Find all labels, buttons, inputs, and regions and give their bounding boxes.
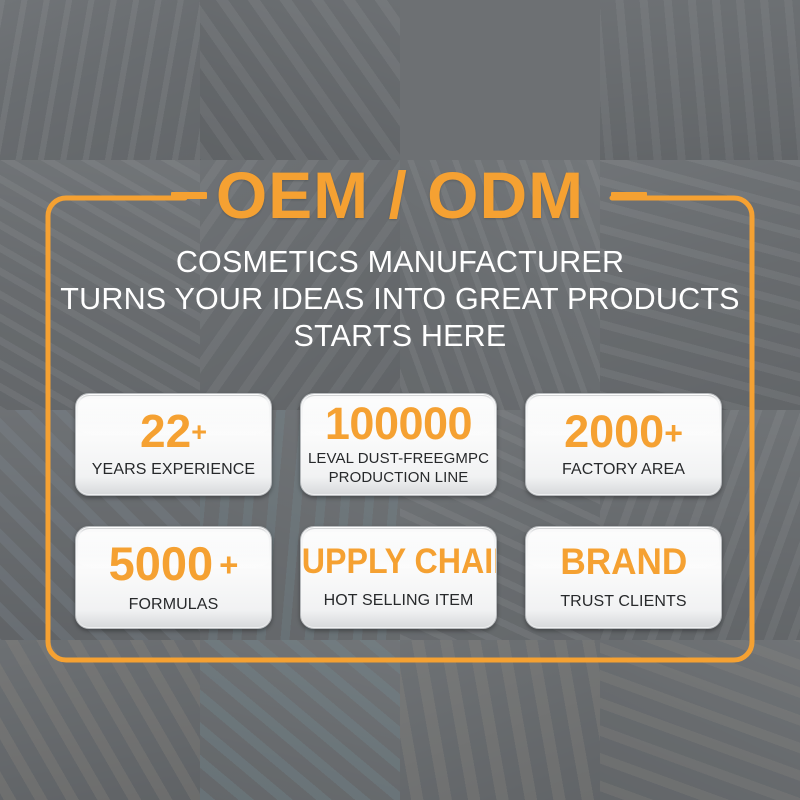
stat-number: BRAND [560,541,687,582]
stat-card-supply-chain[interactable]: SUPPLY CHAIN HOT SELLING ITEM [300,526,497,629]
stat-number: 5000 [109,537,214,590]
stat-plus-sign: + [219,546,238,583]
stat-value: 22+ [140,408,207,454]
subtitle-line-1: COSMETICS MANUFACTURER [0,244,800,281]
stat-value: BRAND [560,543,687,580]
stat-card-grid: 22+ YEARS EXPERIENCE 100000 LEVAL DUST-F… [75,393,723,629]
stat-number: SUPPLY CHAIN [300,542,497,581]
stat-value: 5000+ [109,540,239,587]
promo-banner: OEM / ODM COSMETICS MANUFACTURER TURNS Y… [0,0,800,800]
stat-label: FORMULAS [129,595,219,614]
stat-number: 2000 [564,406,664,457]
stat-label: LEVAL DUST-FREEGMPC PRODUCTION LINE [308,449,489,487]
subtitle: COSMETICS MANUFACTURER TURNS YOUR IDEAS … [0,244,800,355]
subtitle-line-3: STARTS HERE [0,318,800,355]
stat-card-production-line[interactable]: 100000 LEVAL DUST-FREEGMPC PRODUCTION LI… [300,393,497,496]
subtitle-line-2: TURNS YOUR IDEAS INTO GREAT PRODUCTS [0,281,800,318]
stat-card-years-experience[interactable]: 22+ YEARS EXPERIENCE [75,393,272,496]
stat-card-formulas[interactable]: 5000+ FORMULAS [75,526,272,629]
stat-number: 22 [140,405,191,457]
stat-plus-sign: + [664,415,683,451]
stat-plus-sign: + [191,417,207,447]
stat-card-brand[interactable]: BRAND TRUST CLIENTS [525,526,722,629]
heading-block: OEM / ODM COSMETICS MANUFACTURER TURNS Y… [0,152,800,355]
stat-label: HOT SELLING ITEM [324,591,474,610]
stat-number: 100000 [325,398,472,449]
stat-value: SUPPLY CHAIN [300,544,497,579]
stat-value: 100000 [325,401,472,446]
stat-value: 2000+ [564,409,683,454]
stat-card-factory-area[interactable]: 2000+ FACTORY AREA [525,393,722,496]
page-title: OEM / ODM [0,152,800,238]
stat-label: TRUST CLIENTS [560,592,686,611]
stat-label: YEARS EXPERIENCE [92,460,255,479]
stat-label: FACTORY AREA [562,460,685,479]
